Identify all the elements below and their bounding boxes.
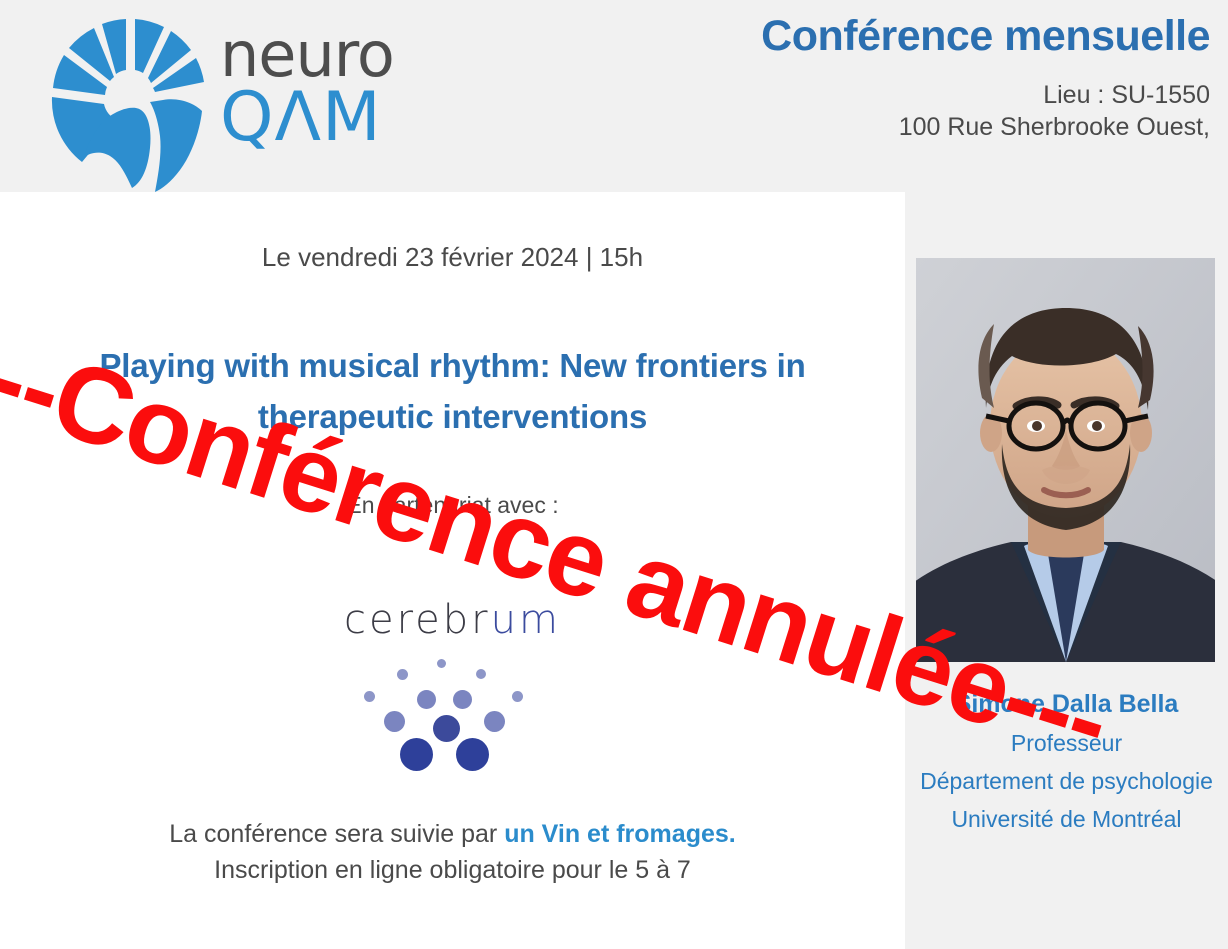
footer-note: La conférence sera suivie par un Vin et …: [0, 817, 905, 888]
speaker-university: Université de Montréal: [905, 806, 1228, 833]
main-panel: Le vendredi 23 février 2024 | 15h Playin…: [0, 192, 905, 949]
event-datetime: Le vendredi 23 février 2024 | 15h: [0, 242, 905, 273]
speaker-info: Simone Dalla Bella Professeur Départemen…: [905, 690, 1228, 844]
speaker-column: Simone Dalla Bella Professeur Départemen…: [905, 192, 1228, 949]
page-title: Conférence mensuelle: [761, 12, 1210, 61]
cerebrum-wordmark: cerebrum: [0, 597, 905, 643]
logo-neuro-text: neuro: [220, 26, 394, 85]
speaker-role: Professeur: [905, 730, 1228, 757]
poster-root: neuro QΛM Conférence mensuelle Lieu : SU…: [0, 0, 1228, 949]
cerebrum-logo: cerebrum: [0, 597, 905, 769]
neuro-brain-icon: [40, 12, 220, 192]
speaker-name: Simone Dalla Bella: [905, 690, 1228, 719]
cerebrum-word-dark: cerebr: [344, 597, 491, 643]
footer-note-line1: La conférence sera suivie par un Vin et …: [0, 817, 905, 853]
speaker-photo: [916, 258, 1215, 662]
logo-qam-text: QΛM: [220, 85, 394, 152]
venue-address: 100 Rue Sherbrooke Ouest,: [761, 111, 1210, 143]
neuroqam-logo: neuro QΛM: [40, 8, 420, 178]
speaker-department: Département de psychologie: [905, 768, 1228, 795]
partner-label: En partenariat avec :: [0, 492, 905, 519]
venue-room: Lieu : SU-1550: [761, 79, 1210, 111]
footer-note-pre: La conférence sera suivie par: [169, 820, 504, 848]
cerebrum-word-blue: um: [491, 597, 561, 643]
cerebrum-dots-icon: [353, 659, 553, 769]
logo-wordmark: neuro QΛM: [220, 26, 394, 152]
venue-block: Lieu : SU-1550 100 Rue Sherbrooke Ouest,: [761, 79, 1210, 143]
footer-note-line2: Inscription en ligne obligatoire pour le…: [0, 853, 905, 889]
footer-note-highlight: un Vin et fromages.: [504, 820, 736, 848]
header-right-block: Conférence mensuelle Lieu : SU-1550 100 …: [761, 12, 1210, 143]
poster-header: neuro QΛM Conférence mensuelle Lieu : SU…: [0, 0, 1228, 192]
talk-title: Playing with musical rhythm: New frontie…: [30, 340, 875, 442]
